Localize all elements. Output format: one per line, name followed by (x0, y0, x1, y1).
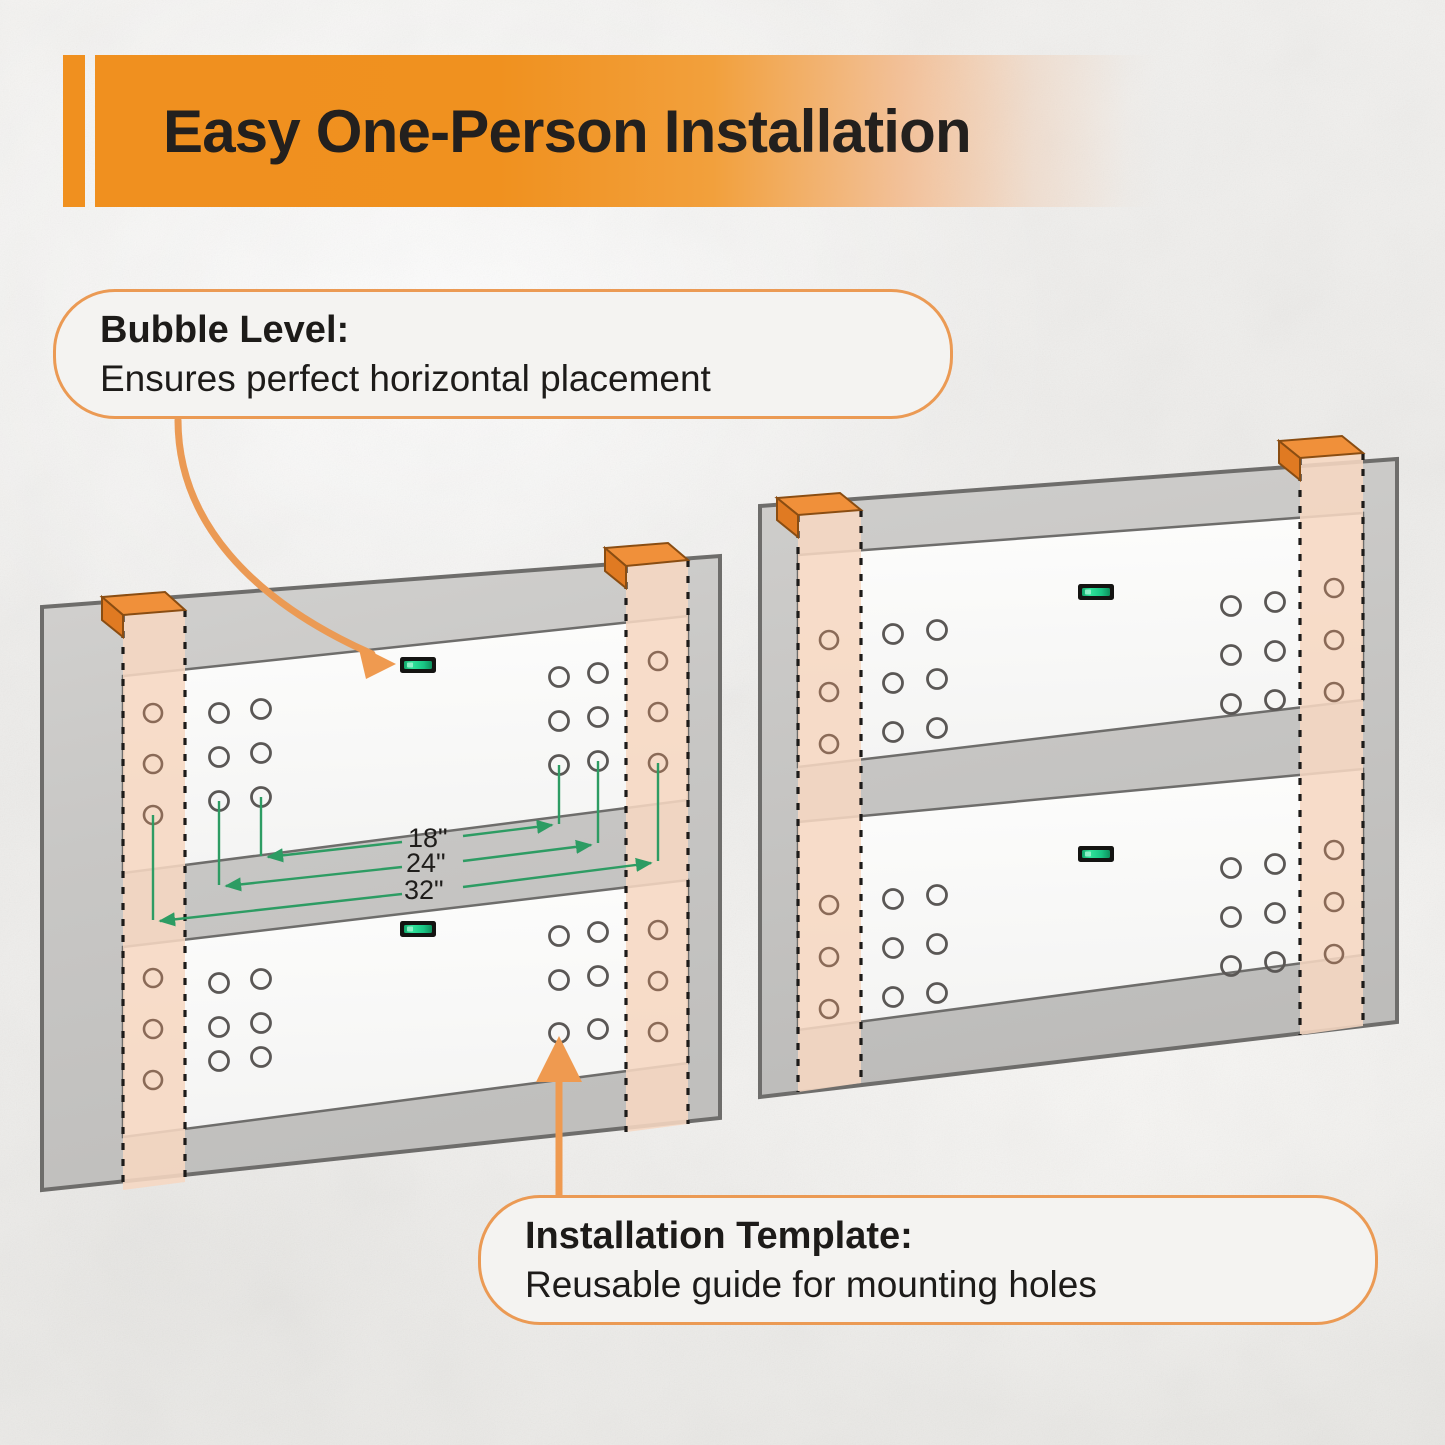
left-wall-panel: 18" 24" 32" (42, 543, 720, 1190)
callout-bubble-level-title: Bubble Level: (100, 307, 906, 353)
bubble-level-right-top (1078, 584, 1114, 600)
callout-installation-template: Installation Template: Reusable guide fo… (478, 1195, 1378, 1325)
callout-installation-template-title: Installation Template: (525, 1213, 1331, 1259)
dimension-label-32: 32" (404, 875, 444, 905)
dimension-label-24: 24" (406, 848, 446, 878)
bubble-level-right-bottom (1078, 846, 1114, 862)
right-wall-panel (760, 436, 1397, 1097)
callout-bubble-level: Bubble Level: Ensures perfect horizontal… (53, 289, 953, 419)
bubble-level-left-top (400, 657, 436, 673)
callout-installation-template-subtitle: Reusable guide for mounting holes (525, 1262, 1331, 1307)
callout-bubble-level-subtitle: Ensures perfect horizontal placement (100, 356, 906, 401)
bubble-level-left-bottom (400, 921, 436, 937)
